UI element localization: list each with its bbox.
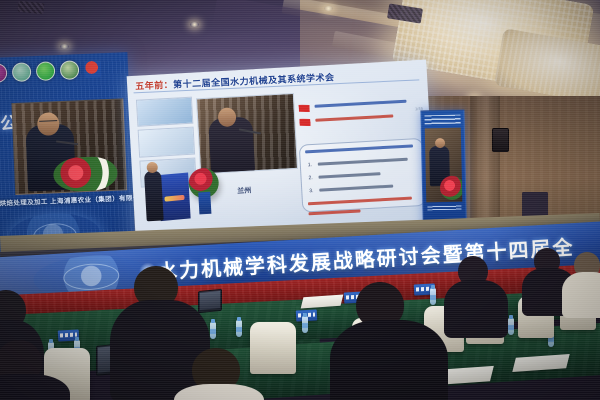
water-bottle	[430, 288, 436, 305]
laptop-computer	[198, 290, 222, 312]
banner-caption-lines	[427, 205, 461, 211]
bullet-number: 3.	[309, 188, 314, 194]
slide-title-prefix: 五年前：	[135, 80, 173, 92]
left-screen-photo	[11, 98, 127, 195]
audience-person	[182, 348, 252, 400]
bullet-number: 1.	[308, 162, 313, 168]
ceiling-downlight	[60, 44, 69, 49]
banner-photo-flowers	[440, 176, 463, 200]
main-projection-screen: 五年前：第十二届全国水力机械及其系统学术会 1/45 兰州 1. 2. 3.	[127, 60, 436, 244]
water-bottle	[236, 320, 242, 337]
red-flag-icon	[299, 118, 310, 127]
wall-mounted-speaker	[492, 128, 509, 152]
red-flag-icon	[298, 104, 309, 113]
photo-person-glasses	[39, 120, 57, 126]
banner-title-lines	[424, 115, 460, 125]
slide-thumbnail	[138, 127, 195, 157]
banquet-chair	[250, 322, 296, 374]
ceiling-air-vent	[17, 1, 44, 15]
slide-city-caption: 兰州	[237, 185, 252, 196]
audience-person	[0, 340, 62, 400]
water-bottle	[210, 322, 216, 339]
logo-purple-icon	[0, 63, 8, 83]
logo-red-blue-icon	[84, 60, 102, 78]
slide-speaker-photo	[196, 93, 298, 174]
audience-person	[446, 256, 500, 328]
logo-teal-icon	[12, 62, 32, 82]
slide-standing-speaker	[144, 170, 164, 221]
logo-darkgreen-icon	[60, 60, 80, 80]
bullet-number: 2.	[308, 175, 313, 181]
logo-green-icon	[36, 61, 56, 81]
audience-person	[330, 282, 426, 400]
audience-person	[566, 252, 600, 308]
conference-hall-photo: 限公司 芦 供烘焙处理及加工 上海浦惠农业（集团）有限公司 五年前：第十二届全国…	[0, 0, 600, 400]
water-bottle	[302, 316, 308, 333]
slide-thumbnail	[136, 97, 193, 127]
water-bottle	[508, 318, 514, 335]
ceiling-downlight	[190, 22, 199, 27]
ceiling-downlight	[324, 6, 333, 11]
banner-photo	[425, 128, 463, 203]
